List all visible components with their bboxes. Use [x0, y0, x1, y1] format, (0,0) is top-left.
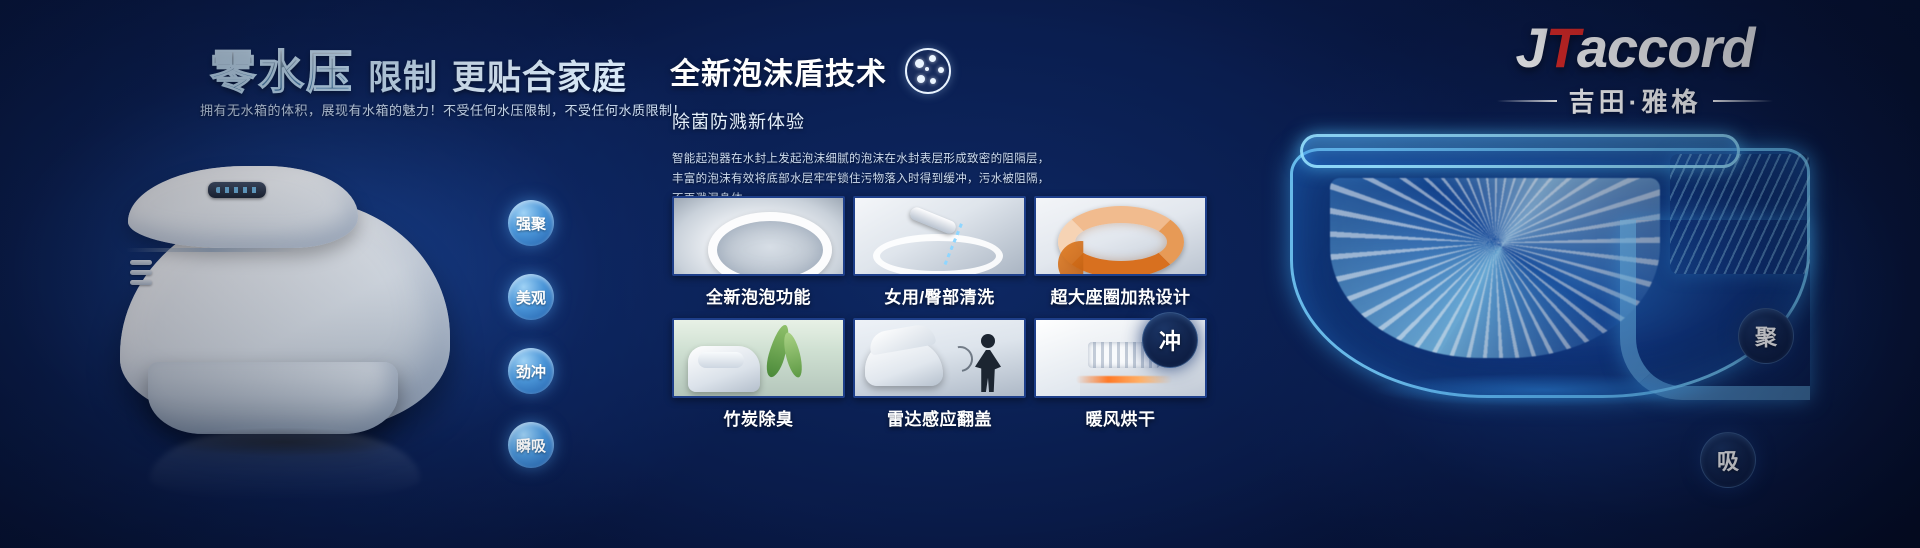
logo-letter-j: J: [1516, 16, 1546, 79]
feature-caption: 女用/臀部清洗: [853, 276, 1026, 318]
foam-bubbles-icon: [905, 48, 951, 94]
logo-rule-right: [1713, 100, 1773, 102]
left-description: 拥有无水箱的体积，展现有水箱的魅力！不受任何水压限制，不受任何水质限制！: [200, 100, 620, 119]
toilet-xray-flush-cutaway: 冲 聚 吸: [1200, 120, 1920, 450]
right-panel: JTaccord 吉田·雅格 冲 聚 吸: [1220, 0, 1920, 548]
xray-water-swirl: [1330, 178, 1660, 358]
feature-caption: 竹炭除臭: [672, 398, 845, 440]
badge-label: 美观: [516, 287, 546, 308]
badge-label: 聚: [1755, 320, 1777, 352]
badge-label: 冲: [1159, 324, 1181, 356]
badge-meiguan[interactable]: 美观: [508, 274, 554, 320]
xray-badge-gather[interactable]: 聚: [1738, 308, 1794, 364]
left-headline: 零水压 限制 更贴合家庭: [210, 36, 627, 102]
smart-toilet-photo: [90, 130, 480, 460]
headline-main: 零水压: [210, 36, 354, 102]
left-panel: 零水压 限制 更贴合家庭 拥有无水箱的体积，展现有水箱的魅力！不受任何水压限制，…: [0, 0, 640, 548]
feature-badge-list: 强聚 美观 劲冲 瞬吸: [508, 200, 554, 468]
logo-word-accord: accord: [1577, 16, 1755, 79]
brand-logo[interactable]: JTaccord 吉田·雅格: [1470, 20, 1800, 119]
middle-heading: 全新泡沫盾技术: [670, 49, 887, 93]
middle-panel: 全新泡沫盾技术 除菌防溅新体验 智能起泡器在水封上发起泡沫细腻的泡沫在水封表层形…: [660, 0, 1220, 548]
bamboo-charcoal-deodorize-photo: [672, 318, 845, 398]
control-panel-icon: [208, 182, 266, 198]
heated-seat-ring-photo: [1034, 196, 1207, 276]
toilet-seam: [126, 248, 296, 252]
logo-rule-left: [1497, 100, 1557, 102]
product-reflection: [150, 430, 420, 500]
xray-badge-flush[interactable]: 冲: [1142, 312, 1198, 368]
badge-jinchong[interactable]: 劲冲: [508, 348, 554, 394]
feature-card-heated-seat[interactable]: 超大座圈加热设计: [1034, 196, 1207, 318]
badge-label: 劲冲: [516, 361, 546, 382]
feature-card-foam[interactable]: 全新泡泡功能: [672, 196, 845, 318]
feature-grid-row: 竹炭除臭 雷达感应翻盖 暖风烘干: [672, 318, 1207, 440]
logo-chinese-row: 吉田·雅格: [1470, 82, 1800, 119]
feature-card-wash[interactable]: 女用/臀部清洗: [853, 196, 1026, 318]
paragraph-line: 丰富的泡沫有效将底部水层牢牢锁住污物落入时得到缓冲，污水被阻隔，: [672, 170, 1220, 190]
logo-chinese-name: 吉田·雅格: [1569, 82, 1702, 119]
feature-card-bamboo[interactable]: 竹炭除臭: [672, 318, 845, 440]
paragraph-line: 智能起泡器在水封上发起泡沫细腻的泡沫在水封表层形成致密的阻隔层，: [672, 150, 1220, 170]
feature-caption: 雷达感应翻盖: [853, 398, 1026, 440]
xray-base-glow: [1310, 368, 1780, 414]
middle-subheading: 除菌防溅新体验: [660, 94, 1220, 134]
middle-heading-row: 全新泡沫盾技术: [660, 0, 1220, 94]
feature-caption: 全新泡泡功能: [672, 276, 845, 318]
logo-letter-t: T: [1546, 16, 1577, 79]
headline-word-1: 限制: [368, 50, 438, 102]
toilet-bowl-foam-photo: [672, 196, 845, 276]
feature-grid-row: 全新泡泡功能 女用/臀部清洗 超大座圈加热设计: [672, 196, 1207, 318]
side-buttons-icon: [130, 260, 156, 290]
badge-label: 吸: [1717, 444, 1739, 476]
feature-caption: 暖风烘干: [1034, 398, 1207, 440]
headline-word-2: 更贴合家庭: [452, 50, 627, 102]
feature-grid: 全新泡泡功能 女用/臀部清洗 超大座圈加热设计: [672, 196, 1207, 440]
promo-banner: 零水压 限制 更贴合家庭 拥有无水箱的体积，展现有水箱的魅力！不受任何水压限制，…: [0, 0, 1920, 548]
radar-sensor-lid-photo: [853, 318, 1026, 398]
logo-wordmark: JTaccord: [1470, 20, 1800, 76]
washing-nozzle-photo: [853, 196, 1026, 276]
badge-shunxi[interactable]: 瞬吸: [508, 422, 554, 468]
badge-label: 强聚: [516, 213, 546, 234]
badge-qiangju[interactable]: 强聚: [508, 200, 554, 246]
feature-card-radar[interactable]: 雷达感应翻盖: [853, 318, 1026, 440]
feature-caption: 超大座圈加热设计: [1034, 276, 1207, 318]
badge-label: 瞬吸: [516, 435, 546, 456]
xray-badge-suction[interactable]: 吸: [1700, 432, 1756, 488]
